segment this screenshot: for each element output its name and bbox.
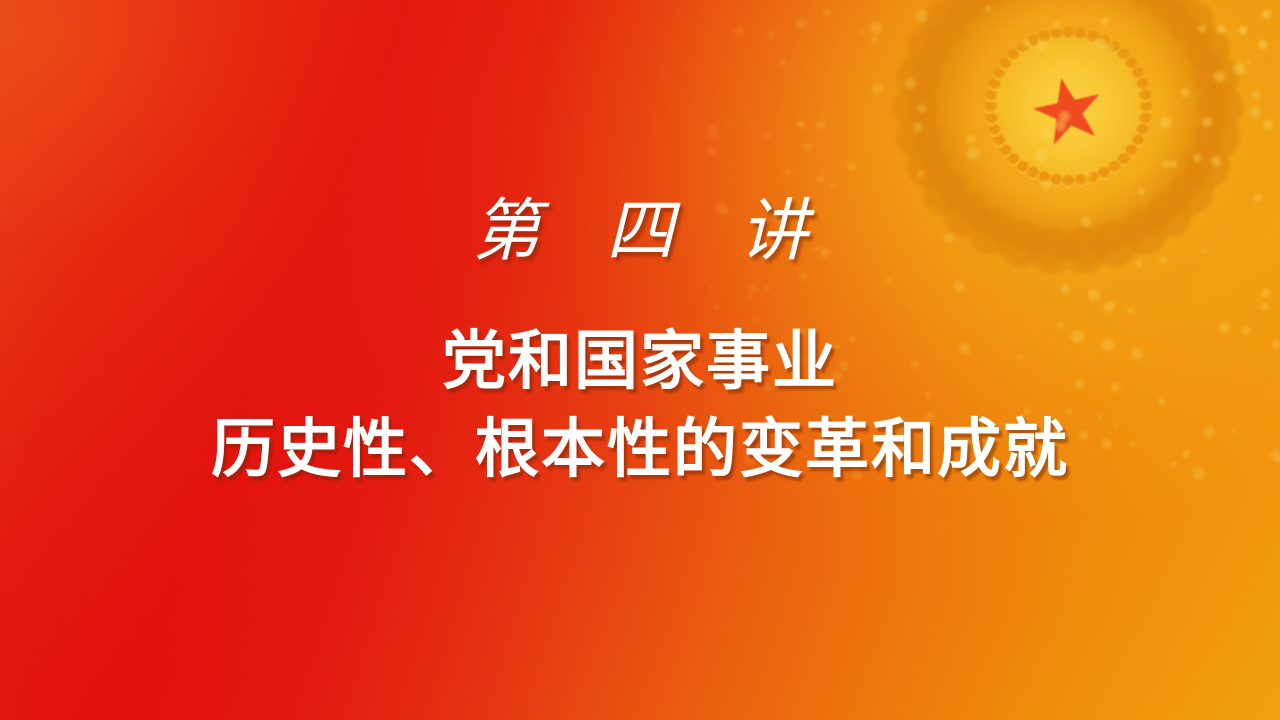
emblem-inner-petal-ring (984, 27, 1152, 187)
title-line-2: 历史性、根本性的变革和成就 (0, 406, 1280, 494)
presentation-slide: 第 四 讲 党和国家事业 历史性、根本性的变革和成就 (0, 0, 1280, 720)
page-title: 党和国家事业 历史性、根本性的变革和成就 (0, 318, 1280, 494)
emblem-inner-disc (990, 32, 1146, 182)
title-line-1: 党和国家事业 (442, 324, 838, 399)
red-star-icon (1024, 66, 1112, 154)
lecture-number: 第 四 讲 (0, 186, 1280, 278)
